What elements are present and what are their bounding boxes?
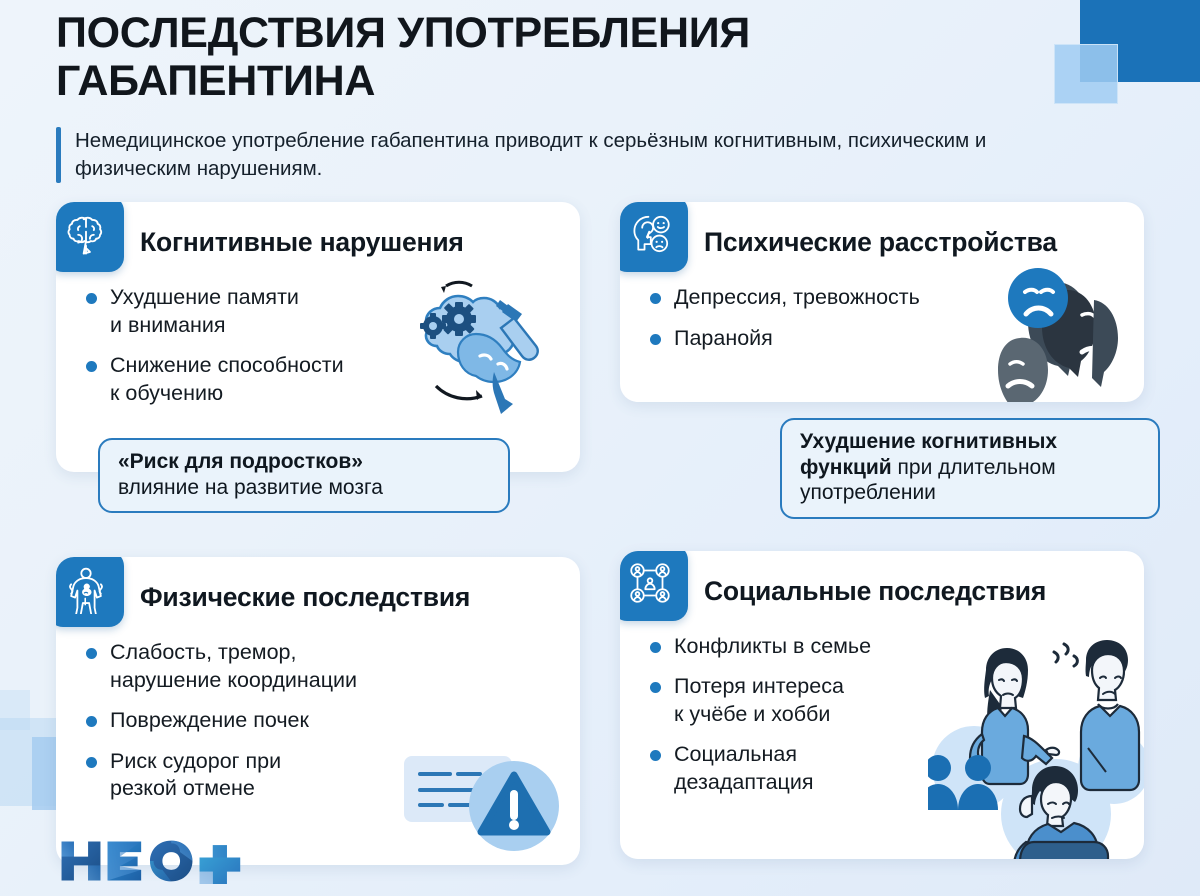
logo-mark	[58, 838, 244, 884]
bullet-dot-icon	[650, 750, 661, 761]
social-network-icon	[620, 551, 688, 621]
card-title: Физические последствия	[140, 583, 470, 613]
callout-text: Ухудшение когнитивных функций при длител…	[800, 429, 1140, 506]
bullet-dot-icon	[650, 682, 661, 693]
bullet-text: Социальная дезадаптация	[674, 741, 814, 796]
bullet-text: Потеря интереса к учёбе и хобби	[674, 673, 844, 728]
head-emotions-icon	[620, 202, 688, 272]
bullets-cognitive: Ухудшение памяти и внимания Снижение спо…	[56, 276, 580, 427]
card-physical: Физические последствия	[56, 557, 580, 865]
bullet-text: Повреждение почек	[110, 707, 309, 735]
bullet-dot-icon	[650, 642, 661, 653]
brain-icon	[56, 202, 124, 272]
card-header-social: Социальные последствия	[620, 551, 1144, 625]
bullet-text: Конфликты в семье	[674, 633, 871, 661]
card-header-cognitive: Когнитивные нарушения	[56, 202, 580, 276]
bullet-dot-icon	[650, 334, 661, 345]
list-item: Социальная дезадаптация	[650, 741, 1124, 796]
bullet-text: Слабость, тремор, нарушение координации	[110, 639, 357, 694]
list-item: Потеря интереса к учёбе и хобби	[650, 673, 1124, 728]
callout-bold-text: «Риск для подростков»	[118, 450, 363, 473]
bullet-dot-icon	[86, 293, 97, 304]
card-cognitive: Когнитивные нарушения	[56, 202, 580, 472]
subtitle-block: Немедицинское употребление габапентина п…	[56, 127, 1056, 183]
left-column: Когнитивные нарушения	[56, 202, 580, 865]
bullet-dot-icon	[86, 757, 97, 768]
bullet-text: Риск судорог при резкой отмене	[110, 748, 281, 803]
callout-text: «Риск для подростков» влияние на развити…	[118, 449, 490, 500]
neo-plus-logo	[58, 838, 244, 884]
card-title: Когнитивные нарушения	[140, 228, 464, 258]
subtitle-accent-bar	[56, 127, 61, 183]
list-item: Депрессия, тревожность	[650, 284, 1124, 312]
header: ПОСЛЕДСТВИЯ УПОТРЕБЛЕНИЯ ГАБАПЕНТИНА Нем…	[56, 10, 1056, 183]
bullets-social: Конфликты в семье Потеря интереса к учёб…	[620, 625, 1144, 817]
infographic-canvas: ПОСЛЕДСТВИЯ УПОТРЕБЛЕНИЯ ГАБАПЕНТИНА Нем…	[0, 0, 1200, 896]
list-item: Слабость, тремор, нарушение координации	[86, 639, 560, 694]
body-organs-icon	[56, 557, 124, 627]
bullet-dot-icon	[86, 648, 97, 659]
list-item: Повреждение почек	[86, 707, 560, 735]
page-subtitle: Немедицинское употребление габапентина п…	[75, 127, 1005, 183]
bullet-text: Ухудшение памяти и внимания	[110, 284, 299, 339]
bullet-dot-icon	[650, 293, 661, 304]
bullet-text: Паранойя	[674, 325, 773, 353]
bullet-text: Снижение способности к обучению	[110, 352, 344, 407]
callout-teen-risk: «Риск для подростков» влияние на развити…	[98, 438, 510, 513]
list-item: Риск судорог при резкой отмене	[86, 748, 560, 803]
right-column: Психические расстройства	[620, 202, 1144, 859]
list-item: Паранойя	[650, 325, 1124, 353]
list-item: Снижение способности к обучению	[86, 352, 560, 407]
bullet-text: Депрессия, тревожность	[674, 284, 920, 312]
card-title: Психические расстройства	[704, 228, 1057, 258]
bullet-dot-icon	[86, 361, 97, 372]
callout-rest-text: влияние на развитие мозга	[118, 476, 383, 499]
list-item: Ухудшение памяти и внимания	[86, 284, 560, 339]
card-psychiatric: Психические расстройства	[620, 202, 1144, 402]
list-item: Конфликты в семье	[650, 633, 1124, 661]
card-header-physical: Физические последствия	[56, 557, 580, 631]
card-title: Социальные последствия	[704, 577, 1046, 607]
page-title: ПОСЛЕДСТВИЯ УПОТРЕБЛЕНИЯ ГАБАПЕНТИНА	[56, 10, 1056, 105]
decor-square-top-right-light	[1054, 44, 1118, 104]
card-header-psychiatric: Психические расстройства	[620, 202, 1144, 276]
bullet-dot-icon	[86, 716, 97, 727]
callout-long-term-use: Ухудшение когнитивных функций при длител…	[780, 418, 1160, 519]
card-social: Социальные последствия	[620, 551, 1144, 859]
bullets-psychiatric: Депрессия, тревожность Паранойя	[620, 276, 1144, 372]
bullets-physical: Слабость, тремор, нарушение координации …	[56, 631, 580, 823]
